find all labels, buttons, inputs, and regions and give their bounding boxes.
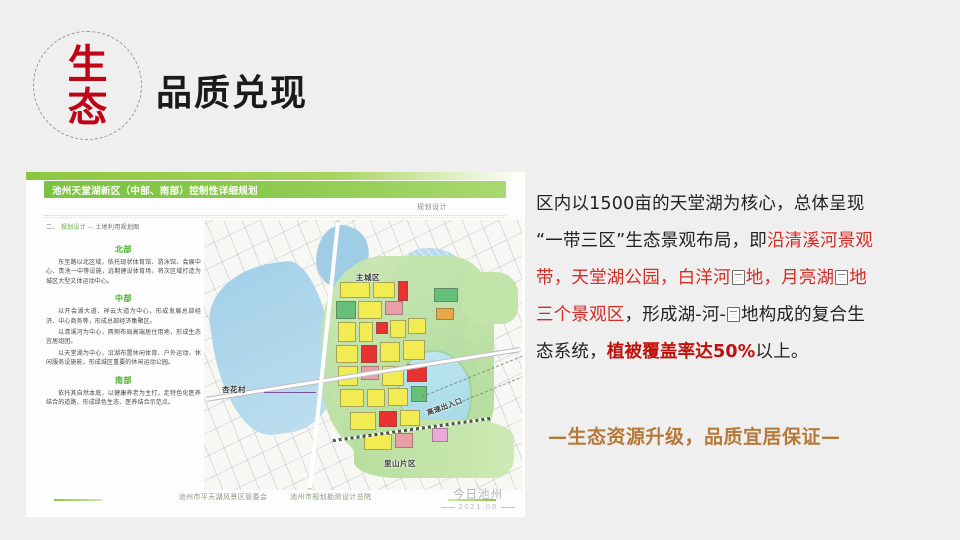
tagline: —生态资源升级，品质宜居保证— — [548, 422, 948, 449]
zoning-block — [434, 288, 458, 302]
document-icon — [835, 270, 848, 285]
copy-line5-text-b: 以上。 — [756, 342, 809, 362]
watermark-dash-left — [441, 507, 455, 508]
copy-line-3: 带，天堂湖公园，白洋河地，月亮湖地 — [536, 260, 936, 297]
map-label-lishan-district: 里山片区 — [384, 458, 416, 469]
watermark: 今日池州 2021.08 — [424, 486, 532, 520]
plan-sec-title-north: 北部 — [46, 244, 201, 255]
document-icon — [727, 307, 740, 322]
copy-line-4: 三个景观区，形成湖-河-地构成的复合生 — [536, 297, 936, 334]
zoning-block — [408, 318, 426, 334]
zoning-block — [338, 322, 356, 342]
copy-line4-highlight: 三个景观区 — [536, 305, 625, 325]
copy-line-5: 态系统，植被覆盖率达50%以上。 — [536, 334, 936, 371]
copy-line5-highlight: 植被覆盖率达50% — [607, 342, 756, 362]
plan-section-green: 规划设计 — [61, 224, 86, 231]
plan-banner: 池州天堂湖新区（中部、南部）控制性详细规划 — [44, 181, 506, 198]
footer-org-left: 池州市平天湖风景区管委会 — [179, 493, 268, 501]
zoning-block — [436, 308, 454, 320]
plan-para: 以清溪河为中心，两侧布局高端居住用地，形成生态宜居组团。 — [46, 328, 201, 347]
zoning-block — [367, 389, 385, 407]
copy-line1-text: 区内以1500亩的天堂湖为核心，总体呈现 — [536, 194, 865, 214]
zoning-block — [359, 322, 373, 342]
zoning-block — [398, 281, 408, 301]
zoning-block — [358, 301, 382, 319]
plan-para: 依托其自然本底，以健康养老为主打，走特色化医养结合的道路，形成绿色生态、医养结合… — [46, 389, 201, 408]
copy-line3-highlight-a: 带，天堂湖公园，白洋河 — [536, 268, 731, 288]
plan-section-rest: -- 土地利用规划图 — [88, 224, 139, 231]
plan-para: 以天堂湖为中心，沿湖布置休闲体育、户外运动、休闲服务设施能，形成城区重要的休闲运… — [46, 349, 201, 368]
zoning-block — [340, 389, 364, 407]
zoning-block — [376, 322, 388, 334]
badge-label: 生态 — [56, 44, 120, 130]
zoning-block — [432, 428, 448, 442]
zoning-block — [340, 282, 370, 298]
copy-line-1: 区内以1500亩的天堂湖为核心，总体呈现 — [536, 186, 936, 223]
watermark-date: 2021.08 — [458, 503, 497, 511]
watermark-dash-right — [501, 507, 515, 508]
copy-line5-text-a: 态系统， — [536, 342, 607, 362]
copy-line2-text: “一带三区”生态景观布局，即 — [536, 231, 767, 251]
slide-header: 生态 品质兑现 — [0, 0, 960, 155]
zoning-block — [385, 301, 403, 315]
copy-line-2: “一带三区”生态景观布局，即沿清溪河景观 — [536, 223, 936, 260]
footer-org-right: 池州市规划勘测设计总院 — [290, 493, 371, 501]
body-copy: 区内以1500亩的天堂湖为核心，总体呈现 “一带三区”生态景观布局，即沿清溪河景… — [536, 186, 936, 371]
zoning-block — [336, 301, 356, 319]
zoning-block — [388, 388, 408, 406]
map-label-leader-line — [264, 392, 316, 393]
zoning-block — [336, 345, 358, 363]
copy-line4-text-b: 地构成的复合生 — [741, 305, 865, 325]
zoning-block — [395, 433, 413, 448]
watermark-date-row: 2021.08 — [424, 503, 532, 511]
document-icon — [732, 270, 745, 285]
zoning-block — [379, 411, 397, 427]
plan-top-strip — [26, 172, 525, 180]
plan-para: 以开会湖大道、祥云大道为中心，形成发展总部经济、中心商务等，形成总部经济集聚区。 — [46, 307, 201, 326]
plan-sec-title-south: 南部 — [46, 375, 201, 386]
zoning-block — [380, 342, 400, 362]
copy-line4-text-a: ，形成湖-河- — [625, 305, 727, 325]
zoning-block — [403, 340, 425, 360]
plan-banner-title: 池州天堂湖新区（中部、南部）控制性详细规划 — [52, 183, 258, 197]
map-label-xinghua-village: 杏花村 — [222, 384, 246, 395]
zoning-block — [390, 320, 406, 338]
copy-line3-highlight-b: 地，月亮湖 — [746, 268, 835, 288]
plan-text-column: 二、 规划设计 -- 土地利用规划图 北部 东至路以北区域，依托现状体育馆、游泳… — [46, 222, 201, 484]
map-zoning-blocks — [332, 278, 508, 478]
plan-image-card: 池州天堂湖新区（中部、南部）控制性详细规划 规划设计 二、 规划设计 -- 土地… — [26, 172, 525, 517]
zoning-block — [373, 282, 395, 298]
plan-section-label: 二、 规划设计 -- 土地利用规划图 — [46, 222, 201, 231]
watermark-name: 今日池州 — [424, 486, 532, 502]
zoning-block — [400, 410, 420, 426]
plan-section-index: 二、 — [46, 224, 59, 231]
zoning-block — [361, 345, 377, 363]
copy-line3-highlight-c: 地 — [849, 268, 867, 288]
plan-sec-title-central: 中部 — [46, 293, 201, 304]
land-use-map: 主城区 杏花村 高速出入口 里山片区 — [204, 220, 522, 490]
zoning-block — [350, 412, 376, 430]
plan-subhead-label: 规划设计 — [417, 202, 447, 212]
map-label-main-city: 主城区 — [356, 272, 380, 283]
page-title: 品质兑现 — [156, 74, 308, 114]
plan-divider-rule — [44, 217, 506, 218]
copy-line2-highlight: 沿清溪河景观 — [767, 231, 873, 251]
plan-para: 东至路以北区域，依托现状体育馆、游泳馆、会展中心、贵池一中等设施，远期建设体育场… — [46, 258, 201, 286]
